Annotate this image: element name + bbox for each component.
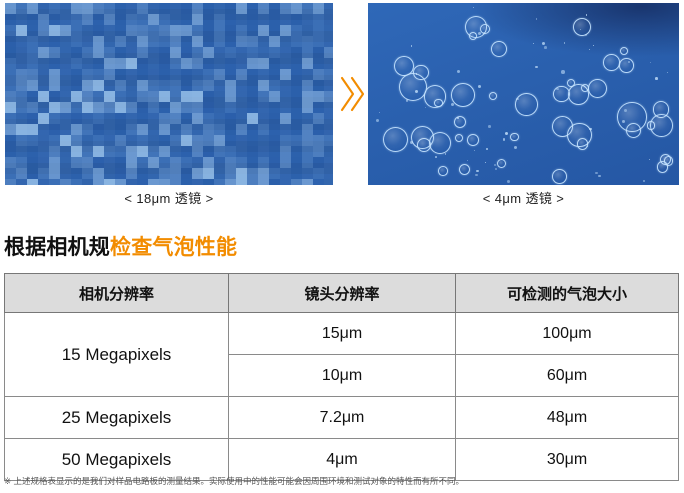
figure-4um-lens (368, 3, 679, 185)
footnote: ※ 上述规格表显示的是我们对样品电路板的测量结果。实际使用中的性能可能会因周围环… (4, 476, 680, 487)
section-heading-highlight: 检查气泡性能 (110, 236, 237, 259)
cell-bubble-size: 100μm (456, 313, 679, 355)
cell-bubble-size: 48μm (456, 397, 679, 439)
column-header-bubble-size: 可检测的气泡大小 (456, 274, 679, 313)
cell-lens-resolution: 7.2μm (229, 397, 456, 439)
section-heading: 根据相机规检查气泡性能 (4, 231, 237, 261)
cell-lens-resolution: 4μm (229, 439, 456, 481)
sharp-microscope-image (368, 3, 679, 185)
specification-table: 相机分辨率 镜头分辨率 可检测的气泡大小 15 Megapixels15μm10… (4, 273, 679, 481)
section-heading-plain: 根据相机规 (4, 236, 110, 259)
table-row: 25 Megapixels7.2μm48μm (5, 397, 679, 439)
cell-camera-resolution: 15 Megapixels (5, 313, 229, 397)
table-row: 15 Megapixels15μm100μm (5, 313, 679, 355)
column-header-camera-resolution: 相机分辨率 (5, 274, 229, 313)
cell-camera-resolution: 50 Megapixels (5, 439, 229, 481)
caption-4um-lens: < 4μm 透镜 > (368, 188, 679, 207)
transition-arrow (333, 3, 368, 185)
table-row: 50 Megapixels4μm30μm (5, 439, 679, 481)
pixelated-microscope-image (5, 3, 333, 185)
figure-18um-lens (5, 3, 333, 185)
caption-18um-lens: < 18μm 透镜 > (5, 188, 333, 207)
double-chevron-right-icon (338, 74, 364, 114)
table-body: 15 Megapixels15μm100μm10μm60μm25 Megapix… (5, 313, 679, 481)
table-header-row: 相机分辨率 镜头分辨率 可检测的气泡大小 (5, 274, 679, 313)
cell-camera-resolution: 25 Megapixels (5, 397, 229, 439)
image-comparison-row (0, 0, 684, 186)
cell-lens-resolution: 15μm (229, 313, 456, 355)
cell-lens-resolution: 10μm (229, 355, 456, 397)
column-header-lens-resolution: 镜头分辨率 (229, 274, 456, 313)
cell-bubble-size: 60μm (456, 355, 679, 397)
cell-bubble-size: 30μm (456, 439, 679, 481)
